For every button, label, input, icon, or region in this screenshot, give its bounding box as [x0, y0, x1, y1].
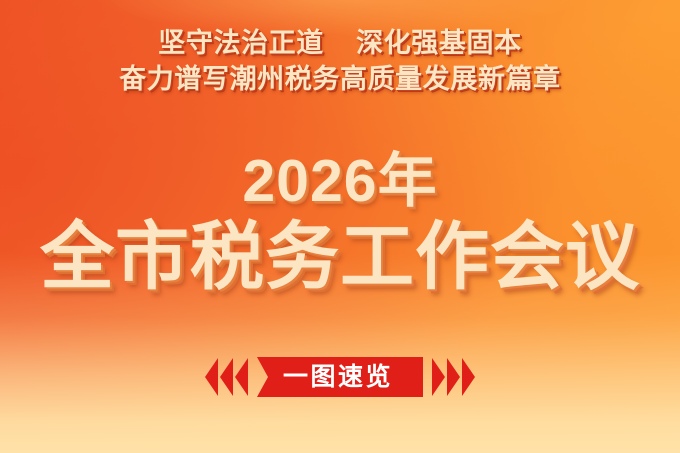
slogan-line-1: 坚守法治正道 深化强基固本: [0, 26, 680, 62]
poster-content: 坚守法治正道 深化强基固本 奋力谱写潮州税务高质量发展新篇章 2026年 全市税…: [0, 0, 680, 453]
slogan-line-1-part-1: 坚守法治正道: [158, 28, 324, 58]
slogan-line-1-part-2: 深化强基固本: [356, 28, 522, 58]
badge-plate: 一图速览: [257, 357, 423, 397]
chevron-left-icon: [220, 358, 233, 396]
badge-label: 一图速览: [283, 365, 393, 390]
poster-canvas: 坚守法治正道 深化强基固本 奋力谱写潮州税务高质量发展新篇章 2026年 全市税…: [0, 0, 680, 453]
chevron-left-icon: [205, 358, 218, 396]
chevron-right-icon: [447, 358, 460, 396]
slogan-block: 坚守法治正道 深化强基固本 奋力谱写潮州税务高质量发展新篇章: [0, 26, 680, 98]
chevron-right-icon: [432, 358, 445, 396]
chevron-left-icon: [235, 358, 248, 396]
main-title-year: 2026年: [0, 150, 680, 213]
chevron-right-icon: [462, 358, 475, 396]
chevron-left-group: [205, 358, 248, 396]
main-title-headline: 全市税务工作会议: [0, 219, 680, 296]
main-title-block: 2026年 全市税务工作会议: [0, 150, 680, 295]
slogan-line-2: 奋力谱写潮州税务高质量发展新篇章: [0, 62, 680, 98]
overview-badge: 一图速览: [0, 356, 680, 398]
chevron-right-group: [432, 358, 475, 396]
